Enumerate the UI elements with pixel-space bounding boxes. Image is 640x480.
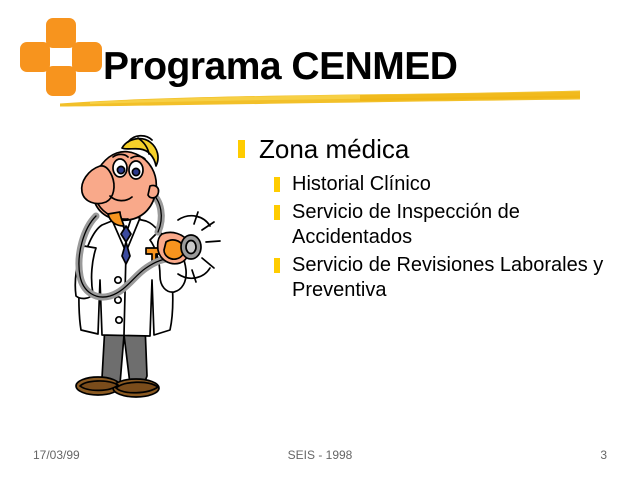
slide-title: Programa CENMED [103,45,457,89]
list-item-level2: Servicio de Inspección de Accidentados [274,200,628,250]
brush-stroke-divider [60,86,580,110]
list-item-label: Historial Clínico [292,172,431,197]
list-item-level1: Zona médica [238,134,628,164]
footer-page-number: 3 [600,448,607,462]
list-item-label: Zona médica [259,134,409,164]
four-squares-cross-logo [20,18,90,90]
slide: Programa CENMED [0,0,640,480]
footer-center-text: SEIS - 1998 [0,448,640,462]
bullet-list: Zona médica Historial Clínico Servicio d… [238,134,628,306]
list-item-label: Servicio de Inspección de Accidentados [292,200,628,250]
slide-footer: 17/03/99 SEIS - 1998 3 [0,448,640,468]
logo-square-right [72,42,102,72]
bullet-marker-level2 [274,177,280,192]
logo-square-left [20,42,50,72]
list-item-level2: Historial Clínico [274,172,628,197]
list-item-level2: Servicio de Revisiones Laborales y Preve… [274,253,628,303]
bullet-marker-level2 [274,205,280,220]
bullet-marker-level1 [238,140,245,158]
doctor-with-stethoscope-illustration [50,130,235,410]
list-item-label: Servicio de Revisiones Laborales y Preve… [292,253,628,303]
logo-square-top [46,18,76,48]
bullet-marker-level2 [274,258,280,273]
sublist: Historial Clínico Servicio de Inspección… [274,172,628,303]
